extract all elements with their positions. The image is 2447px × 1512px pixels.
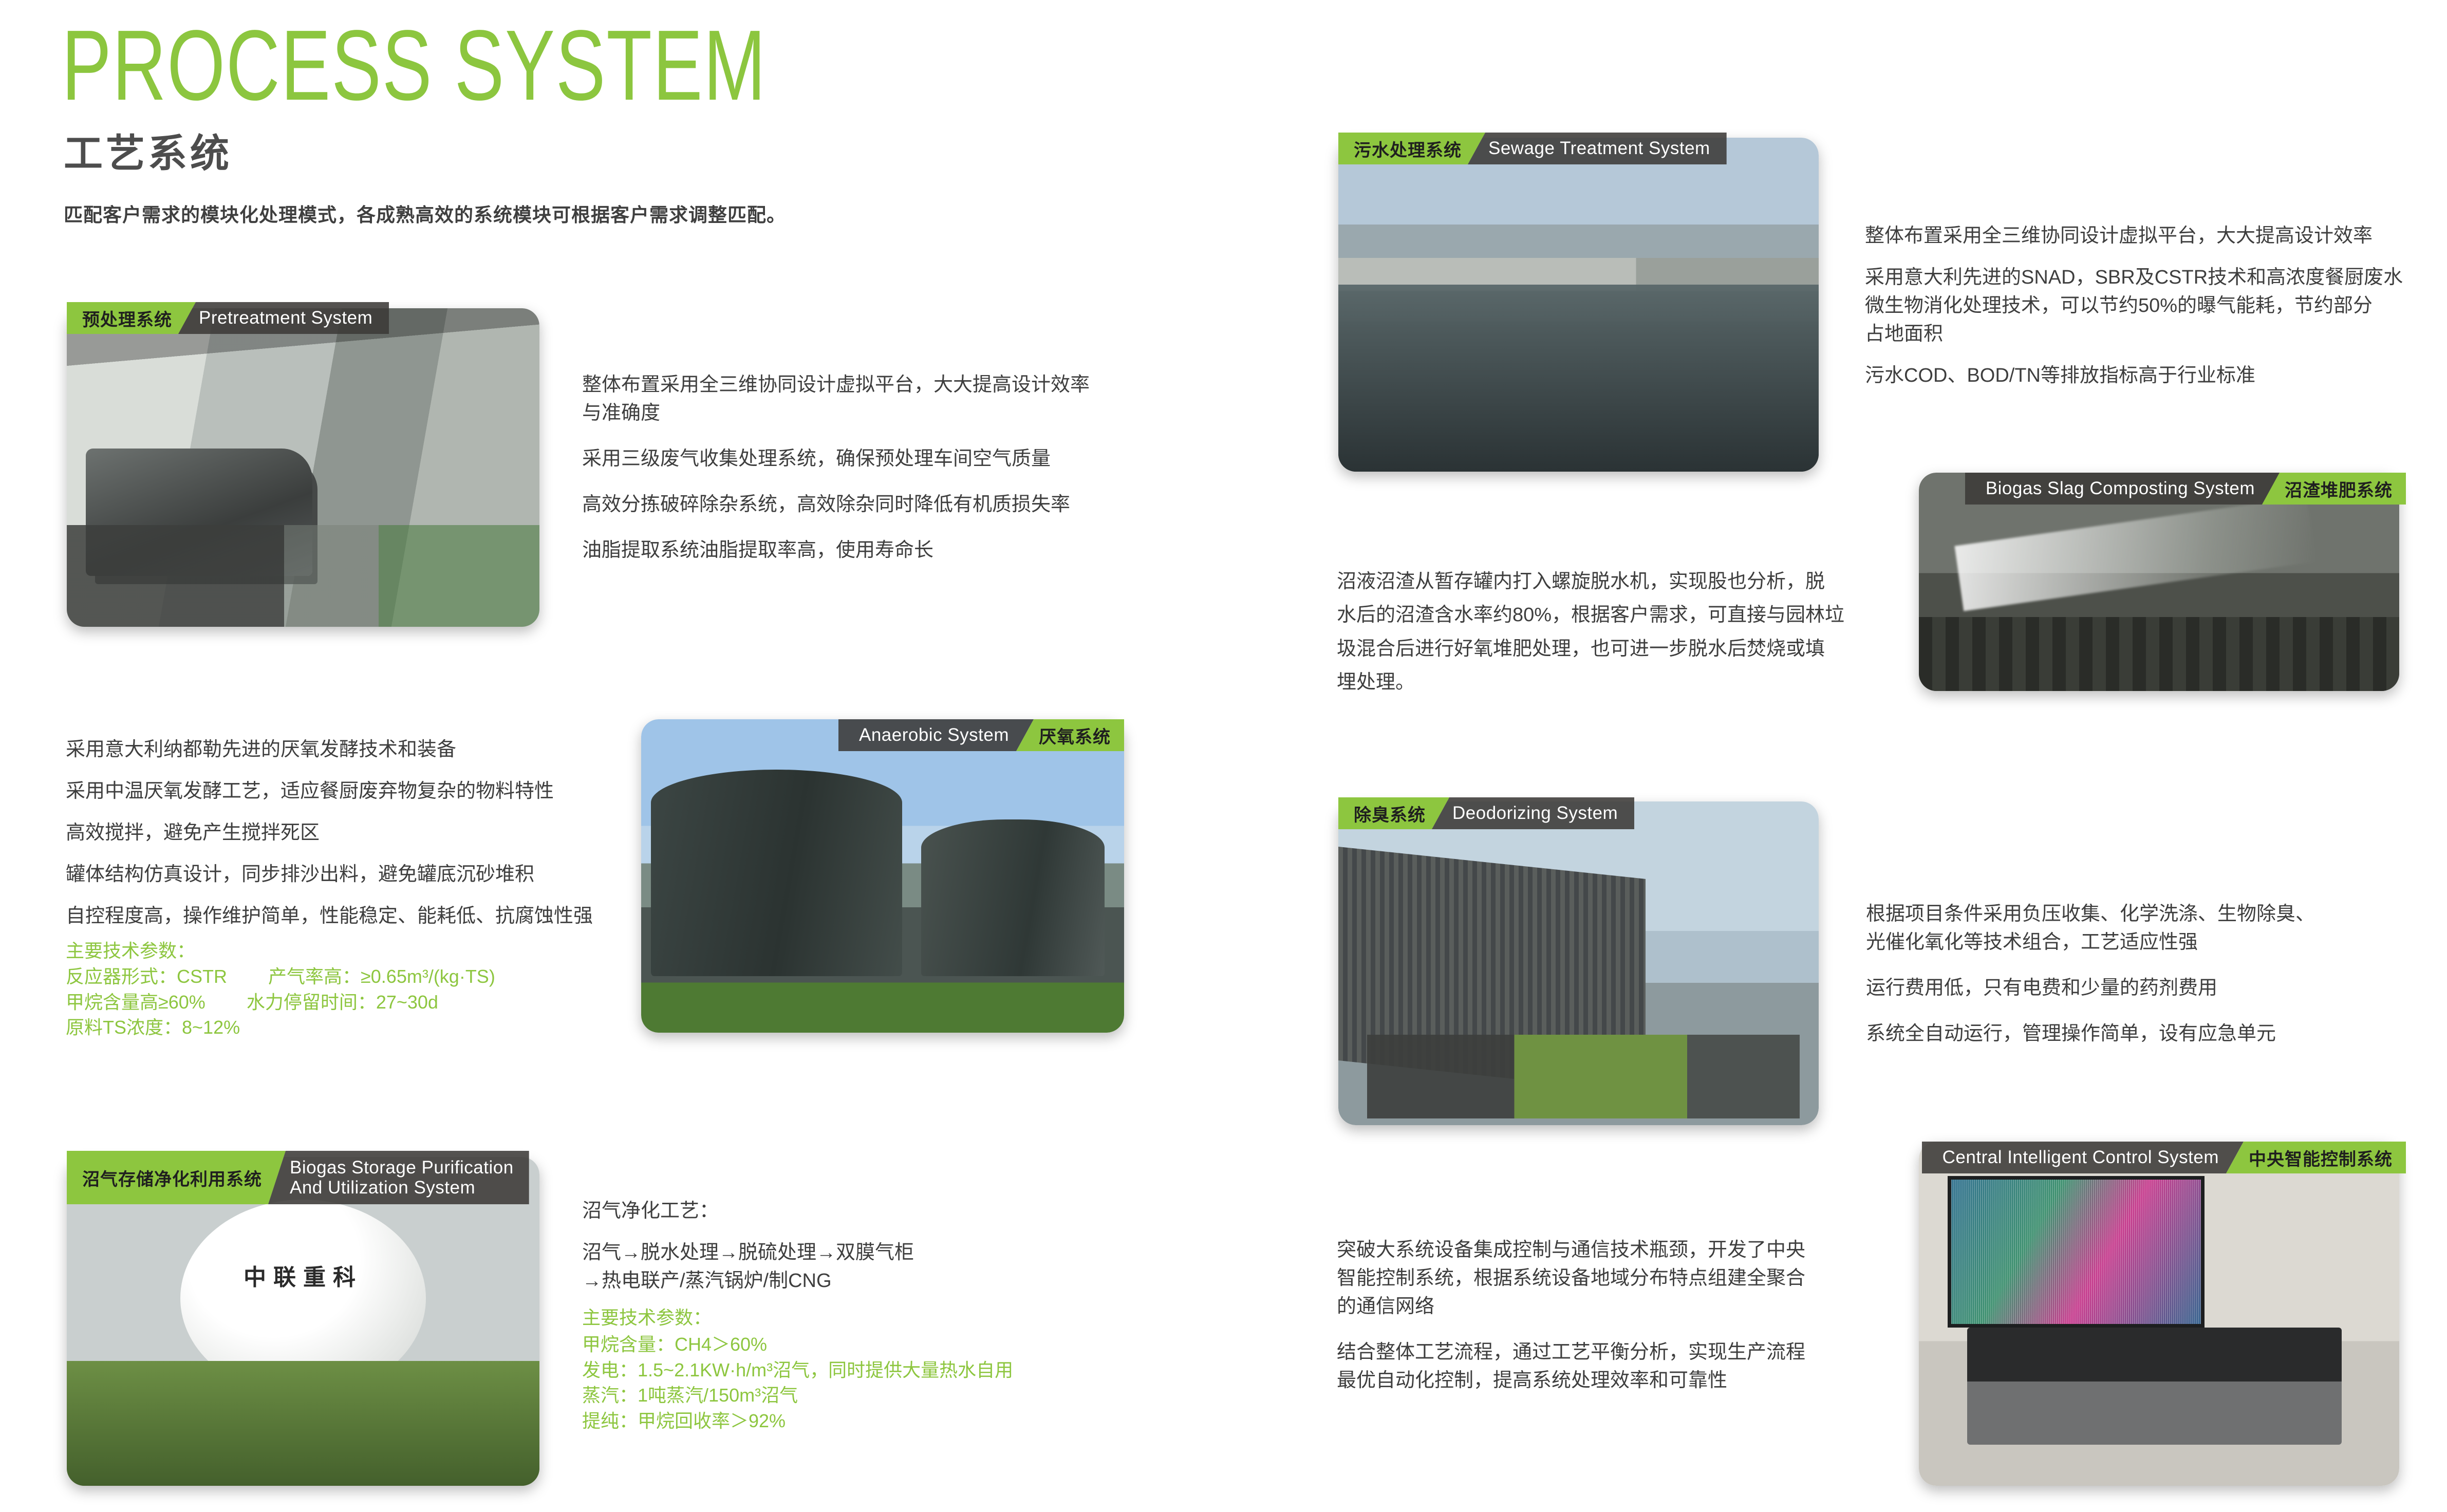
biogas-bullet-1: 沼气净化工艺：: [582, 1197, 1127, 1225]
deodorizing-bullet-1: 根据项目条件采用负压收集、化学洗涤、生物除臭、 光催化氧化等技术组合，工艺适应性…: [1866, 900, 2411, 957]
page-subtitle: 匹配客户需求的模块化处理模式，各成熟高效的系统模块可根据客户需求调整匹配。: [64, 206, 786, 225]
biogas-photo: 中联重科: [67, 1157, 539, 1486]
pretreatment-text: 整体布置采用全三维协同设计虚拟平台，大大提高设计效率 与准确度 采用三级废气收集…: [582, 371, 1137, 565]
sewage-bullet-1: 整体布置采用全三维协同设计虚拟平台，大大提高设计效率: [1865, 222, 2409, 250]
biogas-label: 沼气存储净化利用系统 Biogas Storage Purification A…: [67, 1151, 529, 1204]
brochure-page: PROCESS SYSTEM 工艺系统 匹配客户需求的模块化处理模式，各成熟高效…: [0, 0, 2447, 1512]
deodorizing-bullet-2: 运行费用低，只有电费和少量的药剂费用: [1866, 974, 2411, 1002]
page-title-english: PROCESS SYSTEM: [62, 15, 767, 116]
control-bullet-2: 结合整体工艺流程，通过工艺平衡分析，实现生产流程 最优自动化控制，提高系统处理效…: [1337, 1338, 1886, 1395]
deodorizing-label: 除臭系统 Deodorizing System: [1338, 797, 1634, 829]
control-label: Central Intelligent Control System 中央智能控…: [1922, 1142, 2406, 1173]
control-text: 突破大系统设备集成控制与通信技术瓶颈，开发了中央 智能控制系统，根据系统设备地域…: [1337, 1236, 1886, 1395]
biogas-photo-card: 中联重科: [67, 1157, 539, 1486]
page-title-chinese: 工艺系统: [64, 135, 232, 174]
anaerobic-bullet-4: 罐体结构仿真设计，同步排沙出料，避免罐底沉砂堆积: [66, 861, 631, 889]
anaerobic-label-en: Anaerobic System: [838, 719, 1034, 751]
control-label-en: Central Intelligent Control System: [1922, 1142, 2244, 1173]
anaerobic-bullet-3: 高效搅拌，避免产生搅拌死区: [66, 819, 631, 847]
control-photo-card: [1919, 1142, 2399, 1486]
control-label-cn: 中央智能控制系统: [2226, 1142, 2406, 1173]
pretreatment-photo-card: [67, 308, 539, 627]
anaerobic-bullet-5: 自控程度高，操作维护简单，性能稳定、能耗低、抗腐蚀性强: [66, 902, 631, 930]
pretreatment-label: 预处理系统 Pretreatment System: [67, 302, 389, 334]
deodorizing-bullet-3: 系统全自动运行，管理操作简单，设有应急单元: [1866, 1020, 2411, 1048]
biogas-text: 沼气净化工艺： 沼气→脱水处理→脱硫处理→双膜气柜 →热电联产/蒸汽锅炉/制CN…: [582, 1197, 1127, 1309]
sewage-photo-card: [1338, 138, 1819, 472]
sewage-photo: [1338, 138, 1819, 472]
biogas-label-en-line2: And Utilization System: [290, 1178, 475, 1198]
control-bullet-1: 突破大系统设备集成控制与通信技术瓶颈，开发了中央 智能控制系统，根据系统设备地域…: [1337, 1236, 1886, 1321]
pretreatment-label-en: Pretreatment System: [178, 302, 389, 334]
biogas-bullet-2: 沼气→脱水处理→脱硫处理→双膜气柜 →热电联产/蒸汽锅炉/制CNG: [582, 1239, 1127, 1295]
composting-label-en: Biogas Slag Composting System: [1965, 473, 2280, 505]
composting-photo: [1919, 473, 2399, 691]
biogas-tank-branding: 中联重科: [67, 1259, 539, 1292]
composting-label-cn: 沼渣堆肥系统: [2262, 473, 2406, 505]
control-photo: [1919, 1142, 2399, 1486]
pretreatment-bullet-3: 高效分拣破碎除杂系统，高效除杂同时降低有机质损失率: [582, 491, 1137, 519]
deodorizing-label-cn: 除臭系统: [1338, 797, 1449, 829]
anaerobic-params-title: 主要技术参数：: [66, 938, 195, 964]
deodorizing-photo: [1338, 801, 1819, 1125]
pretreatment-photo: [67, 308, 539, 627]
biogas-params: 甲烷含量：CH4＞60% 发电：1.5~2.1KW·h/m³沼气，同时提供大量热…: [582, 1332, 1013, 1434]
anaerobic-bullet-1: 采用意大利纳都勒先进的厌氧发酵技术和装备: [66, 736, 631, 764]
composting-label: Biogas Slag Composting System 沼渣堆肥系统: [1965, 473, 2406, 505]
sewage-text: 整体布置采用全三维协同设计虚拟平台，大大提高设计效率 采用意大利先进的SNAD，…: [1865, 222, 2409, 403]
biogas-label-en: Biogas Storage Purification And Utilizat…: [268, 1151, 529, 1204]
composting-bullet-1: 沼液沼渣从暂存罐内打入螺旋脱水机，实现股也分析，脱 水后的沼渣含水率约80%，根…: [1337, 565, 1886, 699]
anaerobic-label-cn: 厌氧系统: [1016, 719, 1124, 751]
anaerobic-photo: [641, 719, 1124, 1033]
pretreatment-label-cn: 预处理系统: [67, 302, 196, 334]
deodorizing-label-en: Deodorizing System: [1432, 797, 1634, 829]
pretreatment-bullet-2: 采用三级废气收集处理系统，确保预处理车间空气质量: [582, 445, 1137, 473]
composting-photo-card: [1919, 473, 2399, 691]
biogas-params-title: 主要技术参数：: [582, 1305, 712, 1331]
anaerobic-bullet-2: 采用中温厌氧发酵工艺，适应餐厨废弃物复杂的物料特性: [66, 777, 631, 806]
anaerobic-text: 采用意大利纳都勒先进的厌氧发酵技术和装备 采用中温厌氧发酵工艺，适应餐厨废弃物复…: [66, 736, 631, 944]
biogas-label-en-line1: Biogas Storage Purification: [290, 1158, 514, 1178]
anaerobic-params: 反应器形式：CSTR 产气率高：≥0.65m³/(kg·TS) 甲烷含量高≥60…: [66, 964, 495, 1040]
sewage-label: 污水处理系统 Sewage Treatment System: [1338, 133, 1727, 164]
anaerobic-photo-card: [641, 719, 1124, 1033]
deodorizing-text: 根据项目条件采用负压收集、化学洗涤、生物除臭、 光催化氧化等技术组合，工艺适应性…: [1866, 900, 2411, 1048]
pretreatment-bullet-4: 油脂提取系统油脂提取率高，使用寿命长: [582, 536, 1137, 565]
composting-text: 沼液沼渣从暂存罐内打入螺旋脱水机，实现股也分析，脱 水后的沼渣含水率约80%，根…: [1337, 565, 1886, 699]
pretreatment-bullet-1: 整体布置采用全三维协同设计虚拟平台，大大提高设计效率 与准确度: [582, 371, 1137, 427]
anaerobic-label: Anaerobic System 厌氧系统: [838, 719, 1124, 751]
sewage-bullet-2: 采用意大利先进的SNAD，SBR及CSTR技术和高浓度餐厨废水 微生物消化处理技…: [1865, 264, 2409, 348]
sewage-label-en: Sewage Treatment System: [1468, 133, 1727, 164]
biogas-label-cn: 沼气存储净化利用系统: [67, 1151, 286, 1204]
deodorizing-photo-card: [1338, 801, 1819, 1125]
sewage-label-cn: 污水处理系统: [1338, 133, 1485, 164]
sewage-bullet-3: 污水COD、BOD/TN等排放指标高于行业标准: [1865, 362, 2409, 390]
